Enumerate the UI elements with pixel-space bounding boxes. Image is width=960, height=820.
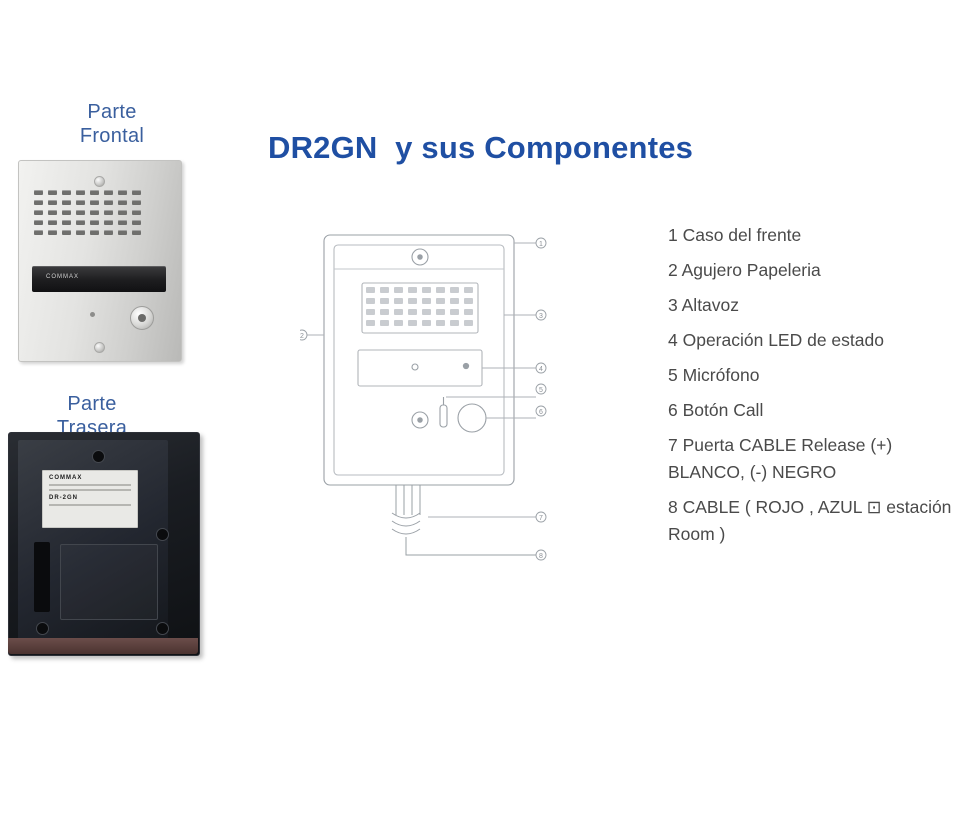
- back-label-sticker: COMMAX DR-2GN: [42, 470, 138, 528]
- call-button-photo: [130, 306, 154, 330]
- svg-text:2: 2: [300, 333, 304, 340]
- speaker-grille: [34, 190, 152, 246]
- back-sticker-model: DR-2GN: [49, 495, 137, 501]
- list-item: 7 Puerta CABLE Release (+) BLANCO, (-) N…: [668, 432, 958, 486]
- list-item: 1 Caso del frente: [668, 218, 958, 253]
- back-unit-foot: [8, 638, 198, 654]
- list-item: 2 Agujero Papeleria: [668, 253, 958, 288]
- back-sticker-brand: COMMAX: [49, 475, 137, 481]
- slide-canvas: Parte Frontal COMMAX Parte Trasera COMMA…: [0, 0, 960, 820]
- svg-text:5: 5: [539, 387, 543, 394]
- brand-plate-text: COMMAX: [46, 274, 79, 280]
- svg-text:6: 6: [539, 409, 543, 416]
- svg-text:1: 1: [539, 241, 543, 248]
- component-list: 1 Caso del frente 2 Agujero Papeleria 3 …: [668, 218, 958, 556]
- list-item: 3 Altavoz: [668, 288, 958, 323]
- technical-drawing: 1 3 4 5 6 7 8 2: [300, 225, 600, 570]
- back-bracket: [60, 544, 158, 620]
- front-unit-photo: COMMAX: [18, 160, 180, 360]
- svg-text:7: 7: [539, 515, 543, 522]
- svg-text:8: 8: [539, 553, 543, 560]
- svg-text:4: 4: [539, 366, 543, 373]
- back-cable-slot: [34, 542, 50, 612]
- brand-plate: COMMAX: [32, 266, 166, 292]
- list-item: 6 Botón Call: [668, 393, 958, 428]
- front-part-label: Parte Frontal: [52, 100, 172, 148]
- list-item: 5 Micrófono: [668, 358, 958, 393]
- list-item: 4 Operación LED de estado: [668, 323, 958, 358]
- front-screw-top-icon: [94, 176, 105, 187]
- back-unit-photo: COMMAX DR-2GN: [8, 432, 198, 654]
- back-mount-hole-top-icon: [92, 450, 105, 463]
- svg-text:3: 3: [539, 313, 543, 320]
- list-item: 8 CABLE ( ROJO , AZUL ⊡ estación Room ): [668, 494, 958, 548]
- back-mount-hole-left-icon: [36, 622, 49, 635]
- back-mount-hole-bottom-icon: [156, 622, 169, 635]
- back-mount-hole-right-icon: [156, 528, 169, 541]
- front-screw-bottom-icon: [94, 342, 105, 353]
- page-title: DR2GN y sus Componentes: [268, 130, 693, 166]
- status-led-icon: [90, 312, 95, 317]
